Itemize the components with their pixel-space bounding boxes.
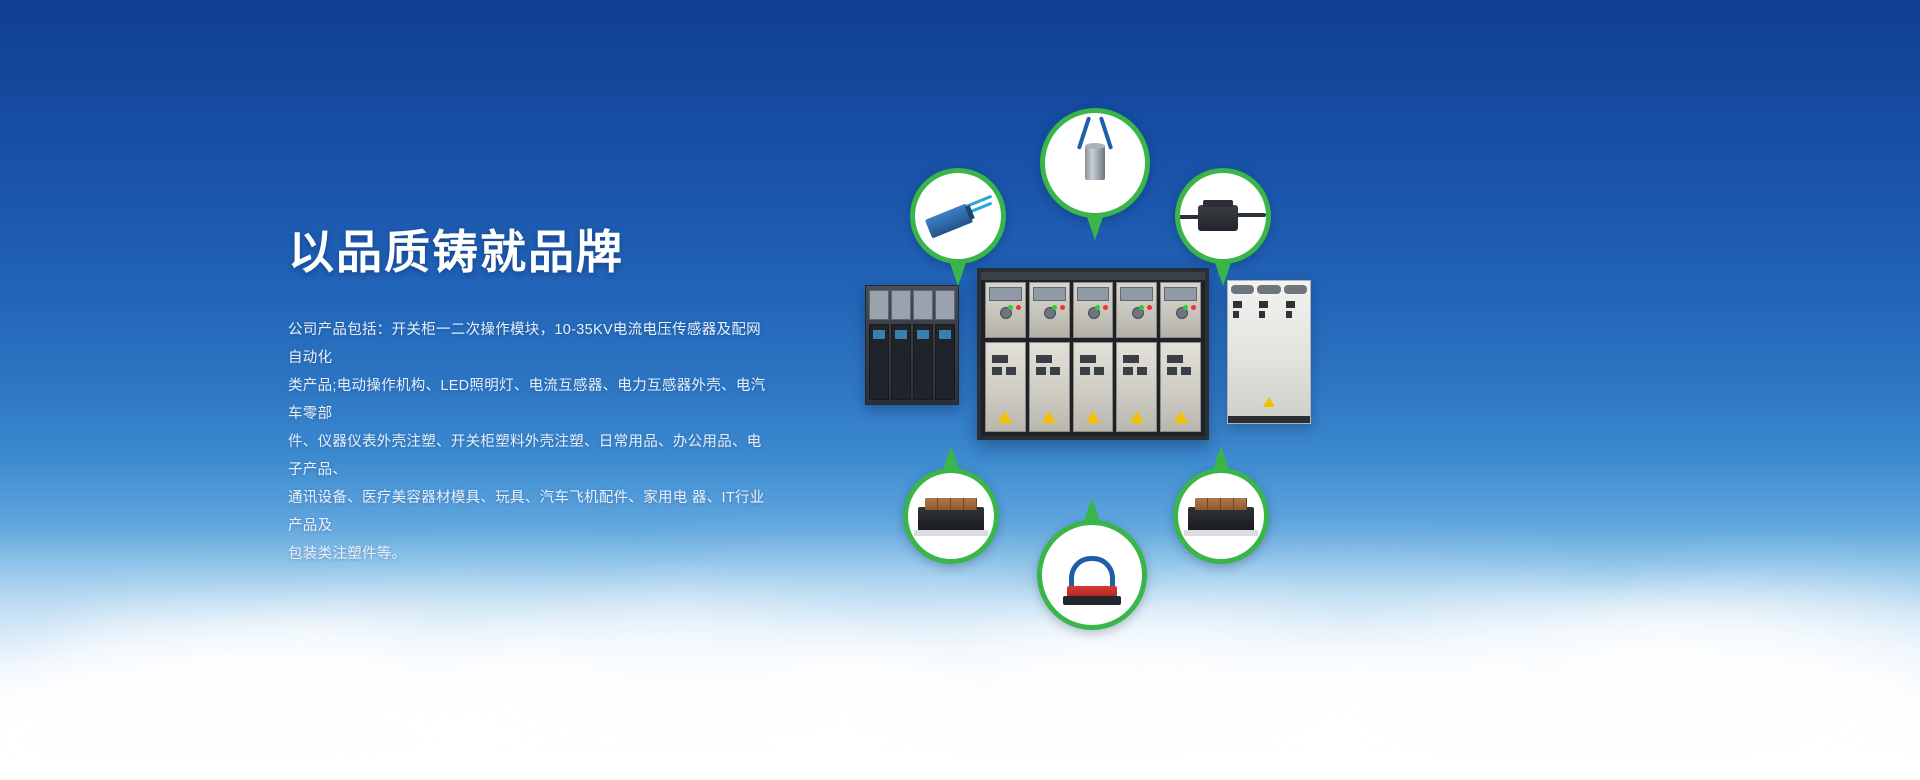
- control-panel: [1116, 282, 1157, 338]
- warning-triangle-icon: [998, 411, 1012, 423]
- switchgear-cabinet-lineup-image: [977, 268, 1209, 440]
- cabinet-door: [1116, 342, 1157, 432]
- warning-triangle-icon: [1174, 411, 1188, 423]
- warning-triangle-icon: [1042, 411, 1056, 423]
- cabinet-door-row: [869, 324, 955, 400]
- description-line: 公司产品包括：开关柜一二次操作模块，10-35KV电流电压传感器及配网自动化: [288, 316, 766, 372]
- cloud-shape: [980, 610, 1410, 750]
- product-cluster: [855, 80, 1325, 620]
- control-panel: [985, 282, 1026, 338]
- cabinet-handle-row: [1231, 285, 1307, 294]
- page-title: 以品质铸就品牌: [288, 224, 788, 280]
- dark-switchgear-cabinet-image: [865, 285, 957, 403]
- blue-sensor-module-icon: [919, 177, 997, 255]
- cabinet-doors: [985, 342, 1201, 432]
- current-transformer-coil-icon: [1056, 124, 1134, 202]
- product-badge-black-sensor-box[interactable]: [1175, 168, 1271, 264]
- cloud-shape: [760, 620, 1380, 780]
- description-line: 类产品;电动操作机构、LED照明灯、电流互感器、电力互感器外壳、电汽车零部: [288, 372, 766, 428]
- cabinet-base: [1228, 416, 1310, 423]
- warning-triangle-icon: [1263, 397, 1275, 407]
- description-line: 包装类注塑件等。: [288, 540, 766, 568]
- product-badge-current-transformer-coil[interactable]: [1040, 108, 1150, 218]
- badge-pointer: [1083, 498, 1101, 524]
- product-badge-u-core-transformer[interactable]: [1037, 520, 1147, 630]
- cabinet-meter-row: [869, 290, 955, 320]
- cloud-shape: [1560, 590, 1920, 740]
- badge-pointer: [942, 446, 960, 472]
- cloud-shape: [180, 620, 600, 770]
- cloud-shape: [430, 615, 950, 780]
- product-badge-blue-sensor-module[interactable]: [910, 168, 1006, 264]
- banner-description: 公司产品包括：开关柜一二次操作模块，10-35KV电流电压传感器及配网自动化 类…: [288, 316, 766, 568]
- product-badge-terminal-block-right[interactable]: [1173, 468, 1269, 564]
- control-panel: [1073, 282, 1114, 338]
- cabinet-top-rail: [981, 272, 1205, 280]
- terminal-block-icon: [1182, 477, 1260, 555]
- banner-copy: 以品质铸就品牌 公司产品包括：开关柜一二次操作模块，10-35KV电流电压传感器…: [288, 224, 788, 568]
- badge-pointer: [949, 260, 967, 286]
- cloud-shape: [0, 640, 500, 780]
- cabinet-door: [1073, 342, 1114, 432]
- cabinet-door: [985, 342, 1026, 432]
- warning-triangle-icon: [1086, 411, 1100, 423]
- cabinet-door: [1160, 342, 1201, 432]
- cabinet-indicator-row: [1231, 301, 1307, 327]
- cloud-shape: [300, 580, 720, 660]
- control-panel: [1160, 282, 1201, 338]
- product-badge-terminal-block-left[interactable]: [903, 468, 999, 564]
- terminal-block-icon: [912, 477, 990, 555]
- badge-pointer: [1086, 214, 1104, 240]
- cloud-shape: [1280, 610, 1920, 780]
- cabinet-door: [1029, 342, 1070, 432]
- badge-pointer: [1212, 446, 1230, 472]
- description-line: 通讯设备、医疗美容器材模具、玩具、汽车飞机配件、家用电 器、IT行业产品及: [288, 484, 766, 540]
- cloud-shape: [60, 605, 390, 710]
- description-line: 件、仪器仪表外壳注塑、开关柜塑料外壳注塑、日常用品、办公用品、电子产品、: [288, 428, 766, 484]
- badge-pointer: [1214, 260, 1232, 286]
- hero-banner: 以品质铸就品牌 公司产品包括：开关柜一二次操作模块，10-35KV电流电压传感器…: [0, 0, 1920, 780]
- warning-triangle-icon: [1130, 411, 1144, 423]
- u-core-transformer-icon: [1053, 536, 1131, 614]
- cabinet-control-panels: [985, 282, 1201, 338]
- black-sensor-box-icon: [1184, 177, 1262, 255]
- control-panel: [1029, 282, 1070, 338]
- light-ring-main-unit-cabinet-image: [1227, 280, 1309, 422]
